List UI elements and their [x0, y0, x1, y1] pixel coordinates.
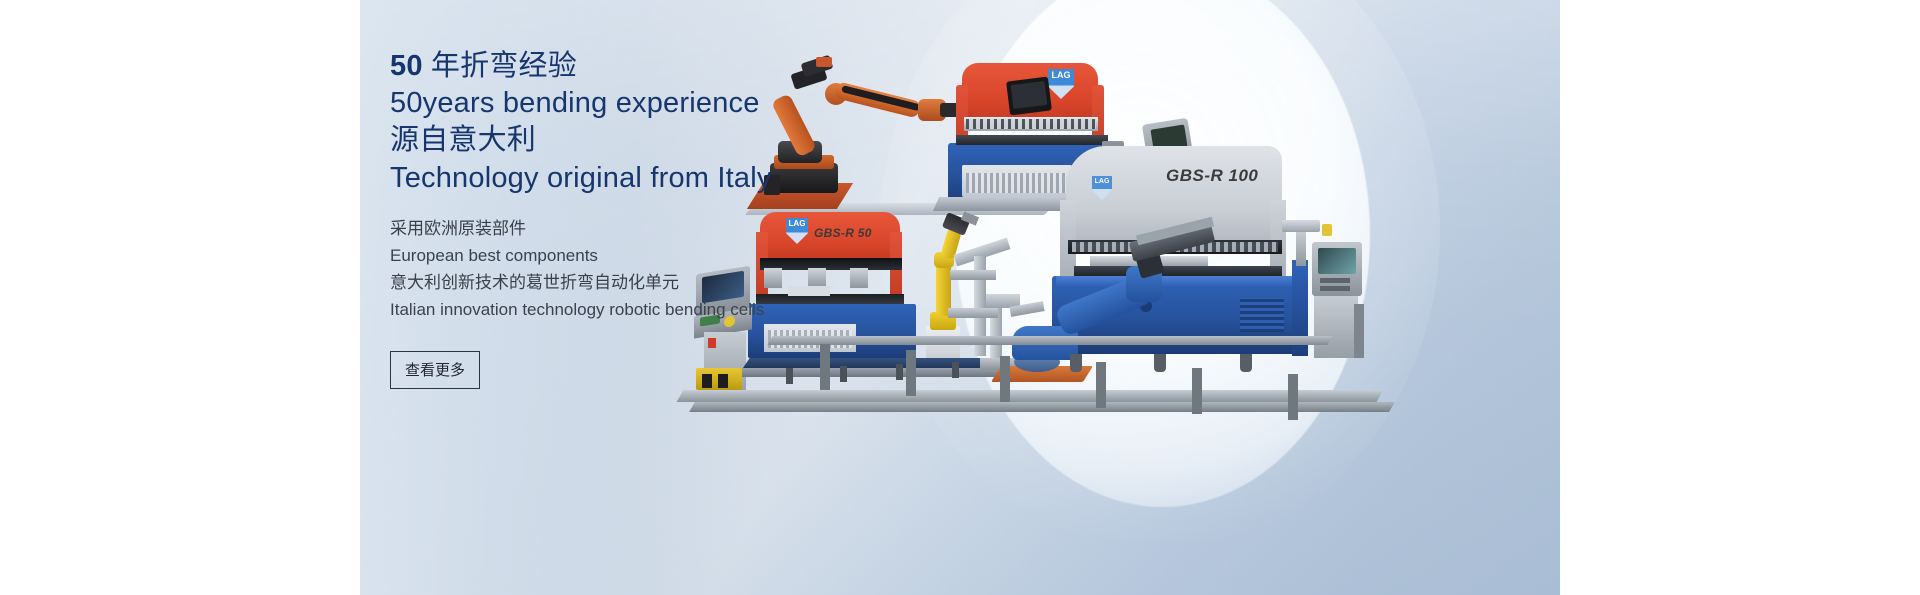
headline-line-4: Technology original from Italy	[390, 159, 950, 197]
subcopy-line-1: 采用欧洲原装部件	[390, 215, 950, 242]
subcopy-group: 采用欧洲原装部件 European best components 意大利创新技…	[390, 215, 950, 323]
subcopy-line-3: 意大利创新技术的葛世折弯自动化单元	[390, 269, 950, 296]
headline-line-1-cn: 年折弯经验	[423, 50, 577, 82]
headline-group: 50 年折弯经验 50years bending experience 源自意大…	[390, 48, 950, 197]
banner-stage: LAG	[0, 0, 1920, 595]
machine-label-gbs-r-100: GBS-R 100	[1166, 166, 1258, 186]
lag-logo-icon: LAG	[1048, 69, 1074, 99]
headline-line-2: 50years bending experience	[390, 85, 950, 122]
headline-line-3: 源自意大利	[390, 122, 950, 159]
view-more-button[interactable]: 查看更多	[390, 351, 480, 389]
copy-block: 50 年折弯经验 50years bending experience 源自意大…	[390, 48, 950, 389]
hero-banner: LAG	[360, 0, 1560, 595]
headline-line-1: 50 年折弯经验	[390, 48, 950, 85]
machine-cell-gbs-r-100: LAG GBS-R 100	[940, 140, 1470, 390]
lag-logo-icon-3: LAG	[1092, 176, 1112, 200]
subcopy-line-2: European best components	[390, 242, 950, 269]
subcopy-line-4: Italian innovation technology robotic be…	[390, 296, 950, 323]
headline-years-number: 50	[390, 50, 423, 82]
